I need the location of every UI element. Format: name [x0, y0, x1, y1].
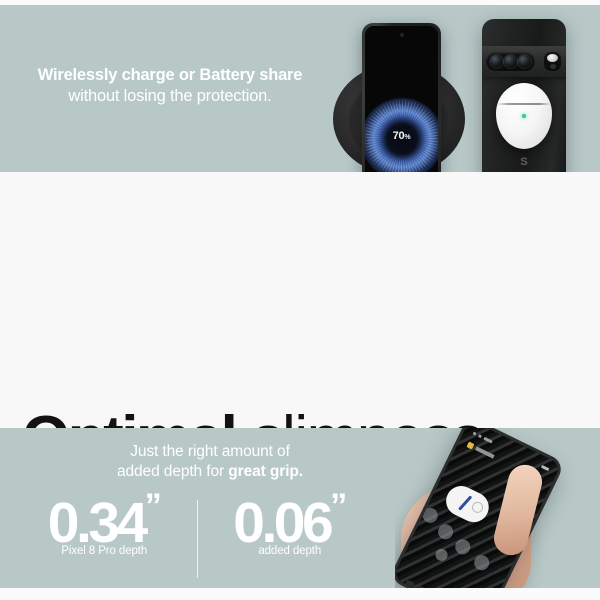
- battery-percentage-value: 70: [393, 130, 405, 142]
- flash-icon: [544, 52, 561, 71]
- stat-value-wrapper: 0.34”: [48, 496, 161, 551]
- slimness-title: Optimal slimness: [22, 408, 482, 428]
- slimness-title-light: slimness: [253, 404, 482, 428]
- stat-pixel-depth: 0.34” Pixel 8 Pro depth: [14, 496, 195, 557]
- depth-stats: 0.34” Pixel 8 Pro depth 0.06” added dept…: [14, 496, 380, 586]
- section-optimal-slimness: Optimal slimness S: [0, 172, 600, 428]
- camera-lens-icon: [490, 55, 503, 68]
- app-icon: [436, 522, 456, 542]
- app-icon: [453, 537, 473, 557]
- buds-case-seam: [497, 103, 551, 105]
- stat-value: 0.34: [48, 491, 145, 555]
- depth-headline-line1: Just the right amount of: [30, 442, 390, 462]
- stat-value-wrapper: 0.06”: [233, 496, 346, 551]
- buds-status-led-icon: [522, 114, 526, 118]
- depth-headline-line2-plain: added depth for: [117, 463, 228, 480]
- phone-back-with-case-icon: S: [482, 19, 566, 172]
- section-wireless-charging: Wirelessly charge or Battery share witho…: [0, 5, 600, 172]
- lens-cluster: [486, 52, 535, 71]
- stat-unit: ”: [145, 487, 161, 525]
- charging-headline-line1: Wirelessly charge or Battery share: [0, 65, 340, 86]
- app-icon: [420, 505, 440, 525]
- depth-headline-line2-bold: great grip.: [228, 463, 303, 480]
- pixel-buds-case-icon: [496, 83, 552, 149]
- front-camera-icon: [400, 33, 404, 37]
- depth-headline: Just the right amount of added depth for…: [30, 442, 390, 482]
- stat-value: 0.06: [233, 491, 330, 555]
- spigen-s-logo-icon: S: [518, 156, 530, 168]
- charging-headline-line2: without losing the protection.: [0, 86, 340, 107]
- phone-screen: 70%: [365, 26, 438, 172]
- slimness-title-bold: Optimal: [22, 404, 235, 428]
- phone-front-on-charger-icon: 70%: [362, 23, 441, 172]
- battery-percentage: 70%: [365, 130, 438, 142]
- depth-headline-line2: added depth for great grip.: [30, 462, 390, 482]
- hand-holding-phone-icon: [395, 428, 600, 588]
- product-feature-page: Wirelessly charge or Battery share witho…: [0, 0, 600, 600]
- camera-bar: [482, 46, 566, 77]
- app-icon: [472, 553, 492, 573]
- speaker-grill-cutouts: [404, 579, 463, 588]
- camera-lens-icon: [518, 55, 531, 68]
- charging-headline: Wirelessly charge or Battery share witho…: [0, 65, 340, 106]
- stats-divider: [197, 500, 198, 578]
- stat-added-depth: 0.06” added depth: [200, 496, 381, 557]
- camera-lens-icon: [504, 55, 517, 68]
- battery-percentage-unit: %: [404, 134, 410, 141]
- app-icon: [434, 547, 450, 563]
- stat-unit: ”: [330, 487, 346, 525]
